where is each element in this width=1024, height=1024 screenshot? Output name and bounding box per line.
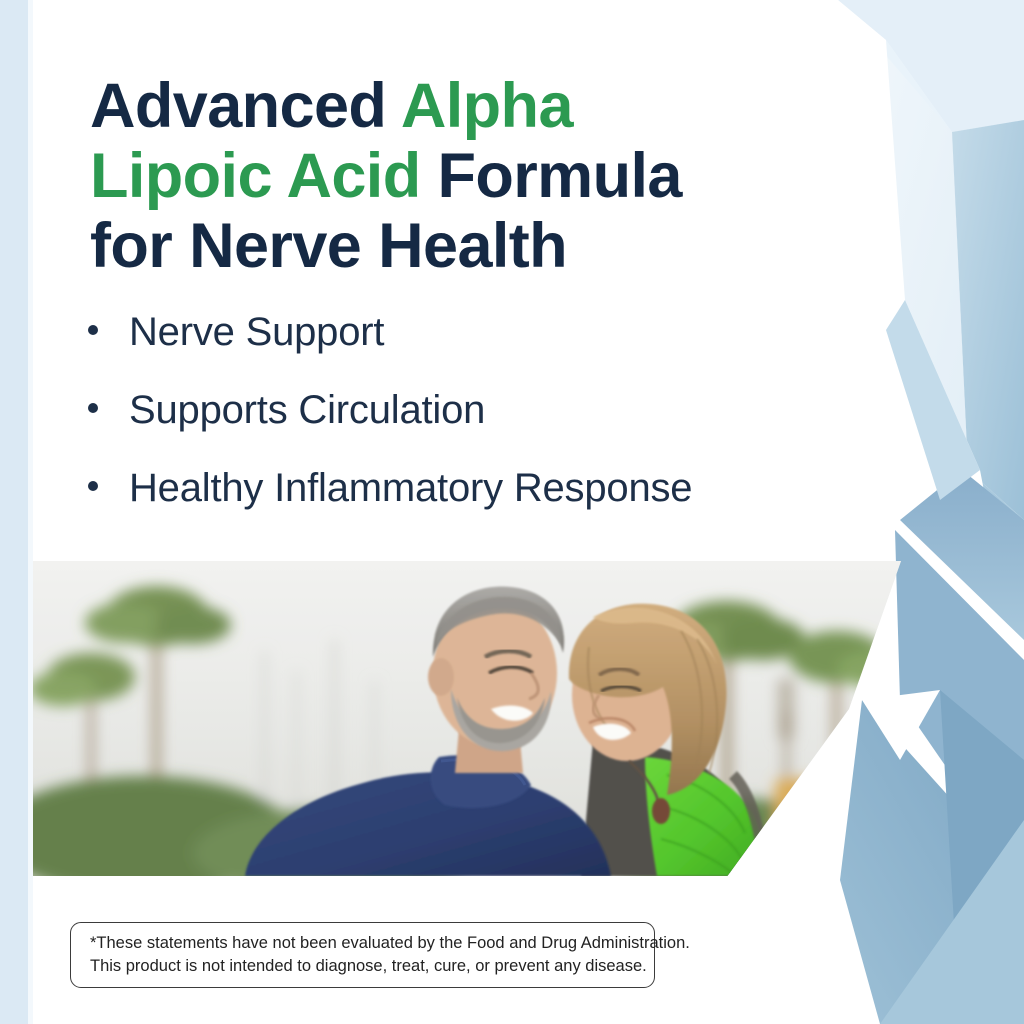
benefit-label: Nerve Support xyxy=(129,312,384,352)
decor-shape-chevron-e xyxy=(880,820,1024,1024)
list-item: Nerve Support xyxy=(88,312,928,352)
frame-strip-left xyxy=(0,0,28,1024)
headline-word-advanced: Advanced xyxy=(90,71,401,141)
bullet-dot-icon xyxy=(88,325,98,335)
headline-word-lipoic-acid: Lipoic Acid xyxy=(90,141,421,211)
disclaimer-line-2: This product is not intended to diagnose… xyxy=(90,955,635,978)
benefit-label: Healthy Inflammatory Response xyxy=(129,468,692,508)
decor-shape-chevron-b xyxy=(895,530,1024,880)
disclaimer-line-1: *These statements have not been evaluate… xyxy=(90,932,635,955)
fda-disclaimer-box: *These statements have not been evaluate… xyxy=(70,922,655,988)
photo-illustration xyxy=(33,561,901,876)
decor-shape-top-pale xyxy=(838,0,1024,132)
decor-shape-top-pale-2 xyxy=(838,0,1024,132)
product-marketing-poster: Advanced Alpha Lipoic Acid Formula for N… xyxy=(0,0,1024,1024)
decor-shape-notch-white xyxy=(862,690,940,760)
list-item: Supports Circulation xyxy=(88,390,928,430)
decor-shape-upper-right-slab-b xyxy=(940,132,1024,640)
page-title: Advanced Alpha Lipoic Acid Formula for N… xyxy=(90,72,790,282)
decor-shape-top-left-wedge xyxy=(820,0,952,148)
decor-shape-chevron-d xyxy=(940,690,1024,1024)
list-item: Healthy Inflammatory Response xyxy=(88,468,928,508)
decor-shape-chevron-upper xyxy=(952,520,1024,700)
headline-word-alpha: Alpha xyxy=(401,71,573,141)
decor-shape-upper-right-slab xyxy=(952,120,1024,520)
bullet-dot-icon xyxy=(88,403,98,413)
benefits-list: Nerve Support Supports Circulation Healt… xyxy=(88,312,928,546)
frame-hairline-left xyxy=(28,0,33,1024)
lifestyle-photo xyxy=(33,561,901,876)
headline-line-for-nerve-health: for Nerve Health xyxy=(90,211,567,281)
photo-canvas xyxy=(33,561,901,876)
decor-shape-chevron-c xyxy=(840,700,1024,1024)
bullet-dot-icon xyxy=(88,481,98,491)
benefit-label: Supports Circulation xyxy=(129,390,485,430)
headline-word-formula: Formula xyxy=(421,141,682,211)
